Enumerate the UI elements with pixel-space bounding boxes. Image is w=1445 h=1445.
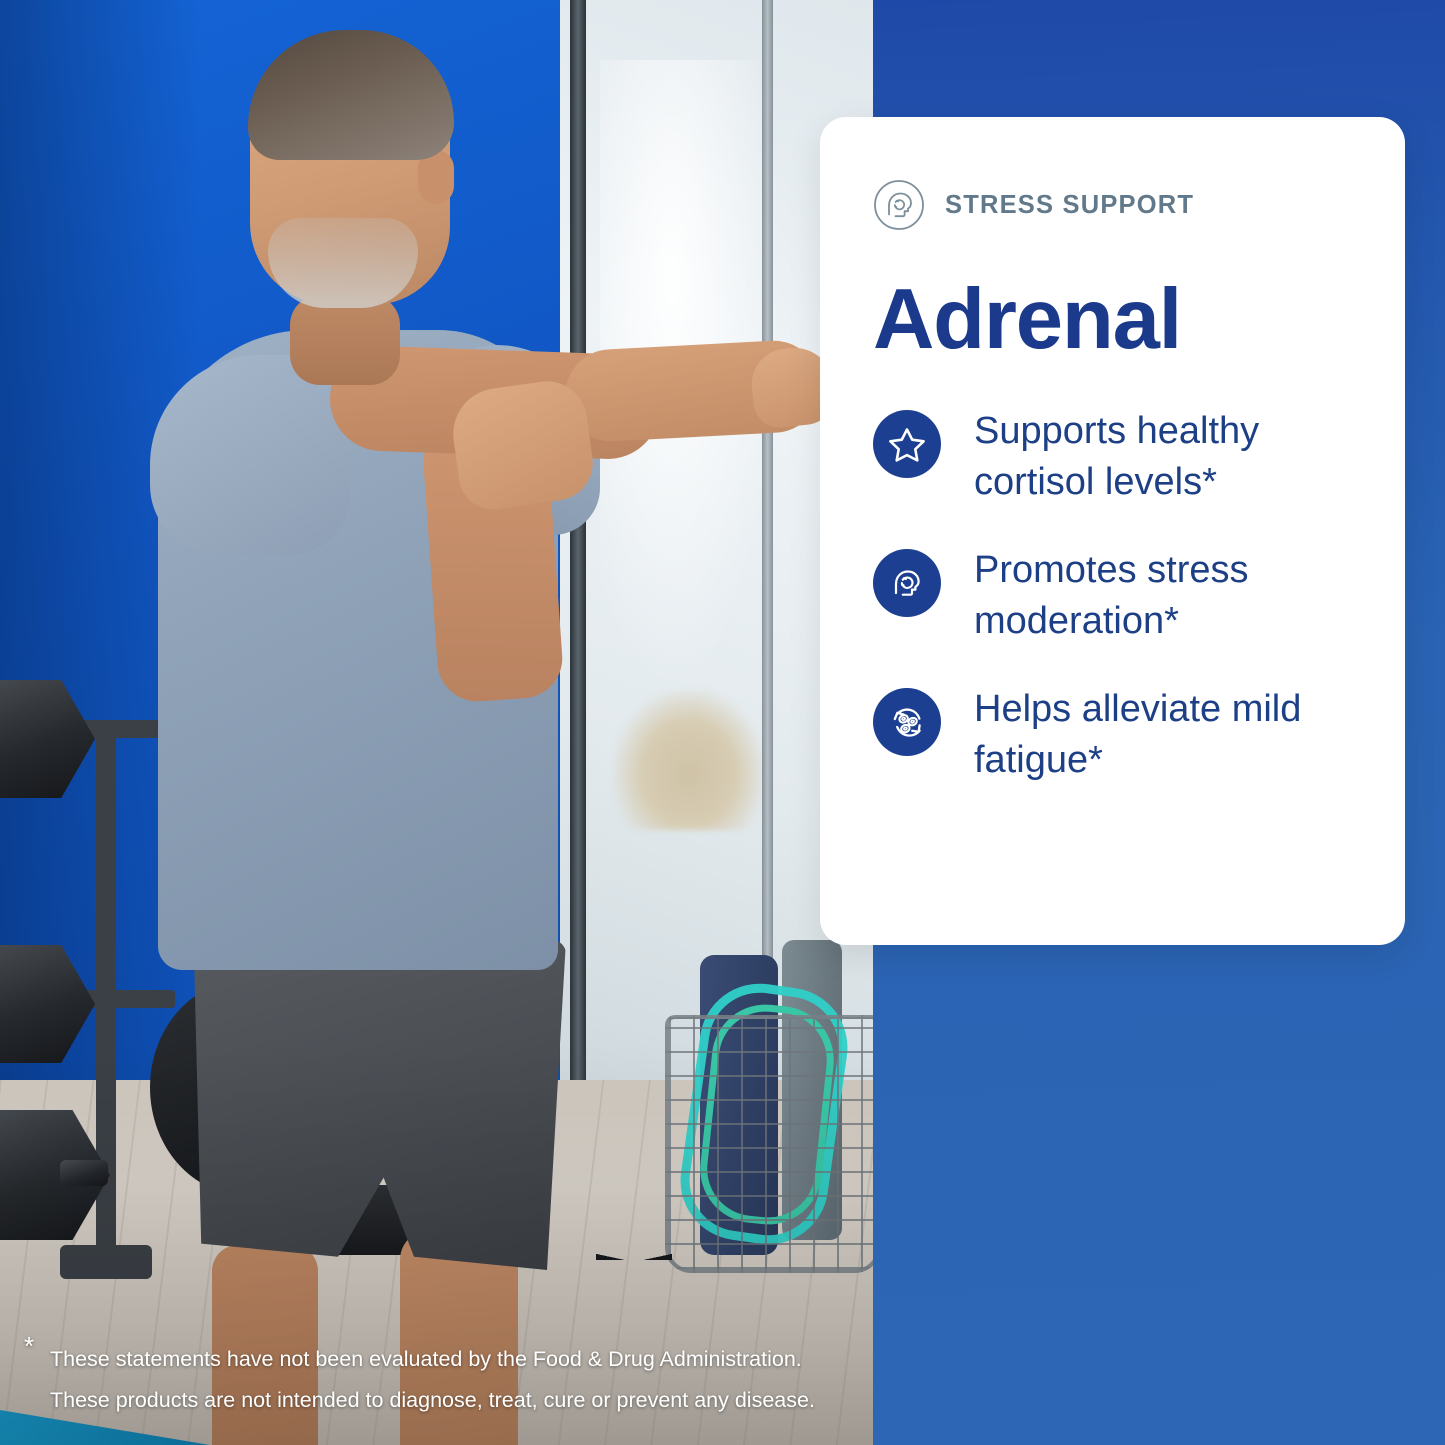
dumbbell-rack <box>0 690 175 1280</box>
window-foliage <box>614 690 764 830</box>
suspension-strap <box>596 1120 672 1260</box>
product-title: Adrenal <box>873 277 1375 362</box>
benefit-item: Promotes stress moderation* <box>873 545 1375 646</box>
window-frame-left <box>570 0 586 1080</box>
wire-basket <box>665 1015 873 1273</box>
category-label: STRESS SUPPORT <box>945 191 1194 220</box>
hero-photo <box>0 0 873 1445</box>
disclaimer-line-2: These products are not intended to diagn… <box>18 1380 858 1421</box>
product-info-card: STRESS SUPPORT Adrenal Supports healthy … <box>820 117 1405 945</box>
cell-recycle-icon <box>873 688 941 756</box>
benefit-text: Promotes stress moderation* <box>974 545 1344 646</box>
benefit-text: Helps alleviate mild fatigue* <box>974 684 1344 785</box>
head-profile-icon <box>873 549 941 617</box>
person-beard <box>268 218 418 308</box>
star-icon <box>873 410 941 478</box>
head-profile-icon <box>873 179 925 231</box>
benefit-item: Supports healthy cortisol levels* <box>873 406 1375 507</box>
disclaimer-asterisk: * <box>24 1333 34 1359</box>
benefit-text: Supports healthy cortisol levels* <box>974 406 1344 507</box>
benefit-item: Helps alleviate mild fatigue* <box>873 684 1375 785</box>
person-neck <box>290 295 400 385</box>
disclaimer-line-1: These statements have not been evaluated… <box>18 1339 858 1380</box>
benefits-list: Supports healthy cortisol levels* Promot… <box>873 406 1375 785</box>
category-eyebrow: STRESS SUPPORT <box>873 179 1375 231</box>
window-frame-right <box>762 0 773 1080</box>
fda-disclaimer: * These statements have not been evaluat… <box>18 1339 858 1421</box>
product-marketing-image: * These statements have not been evaluat… <box>0 0 1445 1445</box>
